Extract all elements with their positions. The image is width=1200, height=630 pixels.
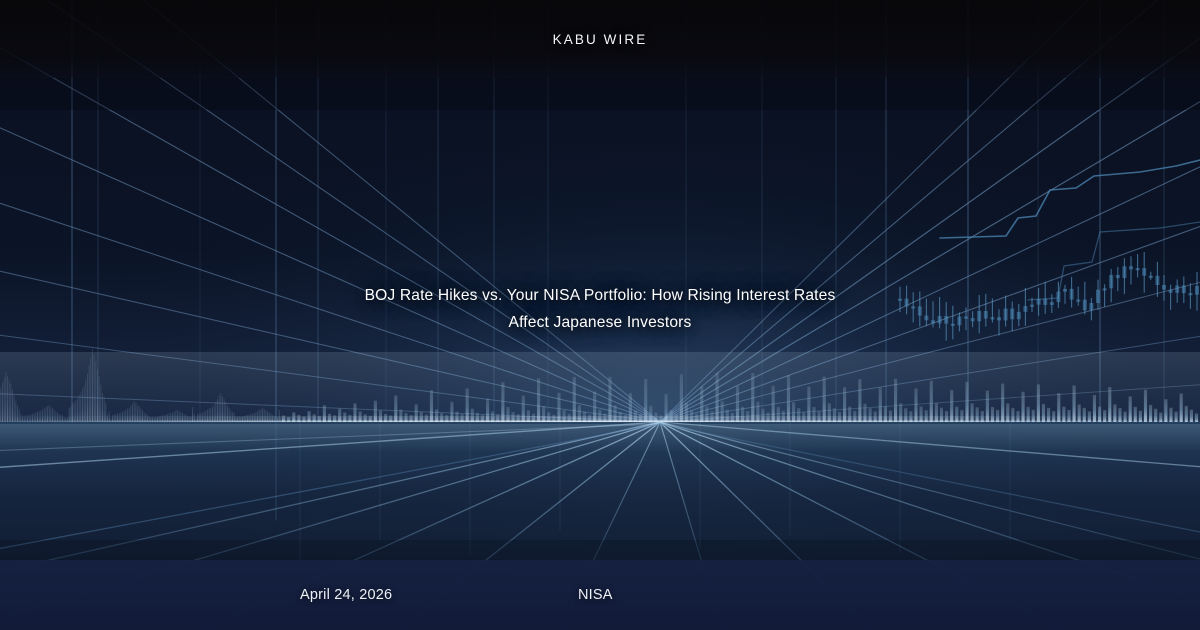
candle-body xyxy=(1050,302,1054,305)
social-share-card: KABU WIRE BOJ Rate Hikes vs. Your NISA P… xyxy=(0,0,1200,630)
candle-body xyxy=(964,317,968,319)
candle-body xyxy=(1023,306,1027,312)
candle-body xyxy=(1195,286,1199,295)
candle-body xyxy=(1122,266,1126,278)
candle-body xyxy=(1129,266,1133,269)
candle-body xyxy=(1182,285,1186,293)
candle-body xyxy=(1136,268,1140,270)
page-title-line-2: Affect Japanese Investors xyxy=(240,309,960,336)
candle-body xyxy=(971,318,975,321)
footer: April 24, 2026 NISA xyxy=(0,560,1200,630)
page-title: BOJ Rate Hikes vs. Your NISA Portfolio: … xyxy=(240,282,960,336)
candle-body xyxy=(1004,309,1008,321)
candle-body xyxy=(1103,288,1107,290)
candle-body xyxy=(1096,290,1100,303)
candle-body xyxy=(1083,300,1087,311)
candle-body xyxy=(1056,292,1060,302)
page-title-line-1: BOJ Rate Hikes vs. Your NISA Portfolio: … xyxy=(240,282,960,309)
candle-body xyxy=(1017,312,1021,319)
candle-body xyxy=(1089,303,1093,310)
candle-body xyxy=(1037,299,1041,305)
candle-body xyxy=(1169,290,1173,293)
candle-body xyxy=(1116,275,1120,278)
candle-body xyxy=(1188,293,1192,295)
candle-body xyxy=(1043,299,1047,305)
brand-header: KABU WIRE xyxy=(0,0,1200,78)
candle-body xyxy=(1149,276,1153,278)
candle-body xyxy=(990,317,994,319)
category-tag: NISA xyxy=(578,587,613,603)
candle-body xyxy=(1030,305,1034,307)
candle-body xyxy=(1070,289,1074,300)
candle-body xyxy=(984,311,988,319)
candle-body xyxy=(1175,285,1179,292)
publish-date: April 24, 2026 xyxy=(300,587,392,603)
candle-body xyxy=(1162,285,1166,290)
candle-body xyxy=(997,317,1001,320)
candle-body xyxy=(1142,268,1146,276)
candle-body xyxy=(1109,275,1113,288)
candle-body xyxy=(1010,309,1014,320)
candle-body xyxy=(1063,289,1067,292)
candle-body xyxy=(1076,300,1080,302)
brand-name: KABU WIRE xyxy=(553,32,648,47)
candle-body xyxy=(977,311,981,321)
candle-body xyxy=(1155,276,1159,285)
